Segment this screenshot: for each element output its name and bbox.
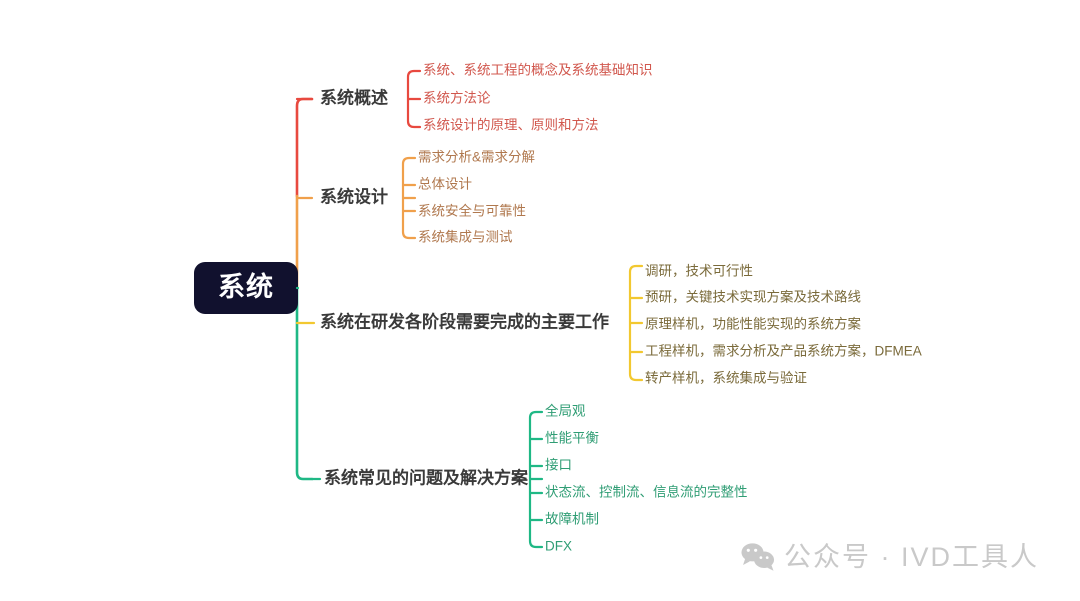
leaf-label: 接口 [545, 457, 572, 473]
root-node[interactable]: 系统 [194, 262, 298, 314]
branch-design[interactable]: 系统设计 需求分析&需求分解 总体设计 系统安全与可靠性 系统集成与测试 [297, 150, 535, 245]
leaf-label: 需求分析&需求分解 [418, 150, 535, 165]
mindmap-canvas: 系统 系统概述 系统、系统工程的概念及系统基础知识 系统方法论 系统设计的原理、… [0, 0, 1080, 601]
root-node-label: 系统 [218, 271, 274, 302]
leaf-label: 系统、系统工程的概念及系统基础知识 [423, 62, 653, 78]
branch-label-common-issues: 系统常见的问题及解决方案 [324, 467, 529, 487]
wechat-icon [741, 543, 774, 570]
spine-segment-green [297, 288, 312, 479]
spine-segment-red [297, 99, 312, 196]
branch-rd-stages[interactable]: 系统在研发各阶段需要完成的主要工作 调研，技术可行性 预研，关键技术实现方案及技… [297, 264, 922, 386]
leaf-label: 总体设计 [418, 177, 472, 192]
leaf-label: 全局观 [545, 403, 586, 419]
leaf-label: 系统安全与可靠性 [418, 203, 526, 219]
bracket-common-issues [530, 412, 542, 547]
leaf-label: 状态流、控制流、信息流的完整性 [545, 484, 748, 500]
branch-common-issues[interactable]: 系统常见的问题及解决方案 全局观 性能平衡 接口 状态流、控制流、信息流的完整性… [312, 403, 748, 554]
leaf-label: 性能平衡 [545, 431, 599, 446]
branch-label-overview: 系统概述 [320, 87, 388, 107]
watermark-label: 公众号 · IVD工具人 [784, 542, 1039, 572]
leaf-label: 系统集成与测试 [418, 230, 513, 245]
leaf-label: 工程样机，需求分析及产品系统方案，DFMEA [645, 343, 922, 359]
bracket-rd-stages [630, 266, 642, 380]
branch-overview[interactable]: 系统概述 系统、系统工程的概念及系统基础知识 系统方法论 系统设计的原理、原则和… [297, 62, 653, 133]
leaf-label: 原理样机，功能性能实现的系统方案 [645, 316, 861, 332]
branch-label-design: 系统设计 [320, 186, 388, 206]
watermark: 公众号 · IVD工具人 [741, 542, 1039, 572]
bracket-design [403, 158, 415, 238]
leaf-label: 转产样机，系统集成与验证 [645, 371, 807, 386]
leaf-label: 系统设计的原理、原则和方法 [423, 118, 599, 133]
trunk-spine [297, 99, 312, 479]
leaf-label: 调研，技术可行性 [645, 264, 753, 279]
bracket-overview [408, 71, 420, 127]
leaf-label: DFX [545, 539, 572, 554]
leaf-label: 预研，关键技术实现方案及技术路线 [645, 289, 861, 305]
leaf-label: 系统方法论 [423, 91, 491, 106]
branch-label-rd-stages: 系统在研发各阶段需要完成的主要工作 [320, 311, 609, 331]
leaf-label: 故障机制 [545, 512, 599, 527]
